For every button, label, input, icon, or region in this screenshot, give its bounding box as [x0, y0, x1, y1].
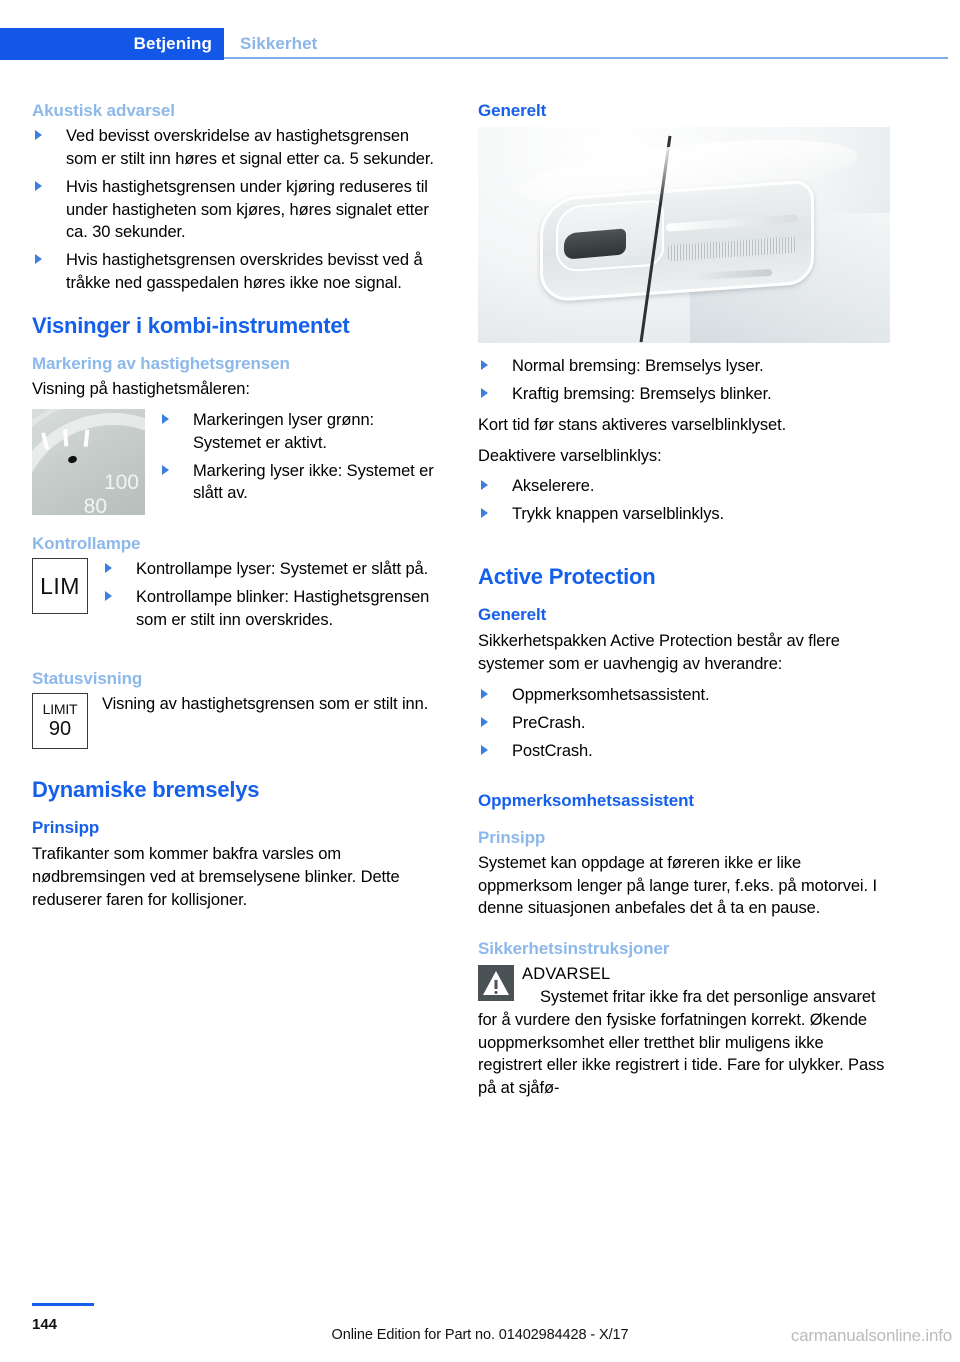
speedometer-label-100: 100	[104, 471, 139, 495]
triangle-bullet-icon	[481, 745, 488, 755]
list-item-text: Kraftig bremsing: Bremselys blinker.	[512, 385, 772, 403]
heading-generelt-bremselys: Generelt	[478, 100, 890, 121]
watermark-text: carmanualsonline.info	[791, 1326, 952, 1346]
heading-visninger-kombi: Visninger i kombi-instrumentet	[32, 313, 444, 339]
triangle-bullet-icon	[481, 508, 488, 518]
speedometer-image: 100 80	[32, 409, 145, 515]
left-column: Akustisk advarsel Ved bevisst overskride…	[32, 100, 444, 920]
lim-badge-figure: LIM	[32, 558, 88, 614]
kort-tid-text: Kort tid før stans aktiveres varselblink…	[478, 414, 890, 437]
list-active-bullets: Oppmerksomhetsassistent. PreCrash. PostC…	[478, 684, 890, 762]
triangle-bullet-icon	[481, 388, 488, 398]
heading-generelt-active: Generelt	[478, 604, 890, 625]
list-item: Kraftig bremsing: Bremselys blinker.	[478, 383, 890, 406]
heading-sikkerhetsinstruksjoner: Sikkerhetsinstruksjoner	[478, 938, 890, 959]
triangle-bullet-icon	[481, 360, 488, 370]
tab-betjening[interactable]: Betjening	[0, 28, 224, 60]
list-item: Ved bevisst overskridelse av hastighetsg…	[32, 125, 444, 171]
list-item-text: Markering lyser ikke: Systemet er slått …	[193, 462, 434, 503]
heading-prinsipp-right: Prinsipp	[478, 827, 890, 848]
list-item: PreCrash.	[478, 712, 890, 735]
heading-dynamiske-bremselys: Dynamiske bremselys	[32, 777, 444, 803]
limit-badge-value: 90	[49, 718, 71, 740]
lim-badge-label: LIM	[40, 575, 80, 598]
kontrollampe-figure-row: LIM Kontrollampe lyser: Systemet er slåt…	[32, 558, 444, 639]
list-item: Markeringen lyser grønn: Systemet er akt…	[159, 409, 444, 455]
warning-triangle-icon	[478, 965, 514, 1001]
triangle-bullet-icon	[162, 465, 169, 475]
header-divider	[224, 57, 948, 59]
list-akustisk-bullets: Ved bevisst overskridelse av hastighetsg…	[32, 125, 444, 294]
statusvisning-text: Visning av hastighetsgrensen som er stil…	[102, 693, 444, 716]
list-item-text: Hvis hastighetsgrensen overskrides bevis…	[66, 251, 423, 292]
triangle-bullet-icon	[35, 254, 42, 264]
list-item: Kontrollampe lyser: Systemet er slått på…	[102, 558, 444, 581]
list-item: Kontrollampe blinker: Hastighetsgrensen …	[102, 586, 444, 632]
list-item: Markering lyser ikke: Systemet er slått …	[159, 460, 444, 506]
heading-kontrollampe: Kontrollampe	[32, 533, 444, 554]
deaktivere-text: Deaktivere varselblinklys:	[478, 445, 890, 468]
triangle-bullet-icon	[481, 689, 488, 699]
list-item-text: Oppmerksomhetsassistent.	[512, 686, 710, 704]
list-item-text: Markeringen lyser grønn: Systemet er akt…	[193, 411, 374, 452]
limit-badge-figure: LIMIT 90	[32, 693, 88, 749]
list-kontrollampe-bullets: Kontrollampe lyser: Systemet er slått på…	[102, 558, 444, 631]
prinsipp-text-right: Systemet kan oppdage at føreren ikke er …	[478, 852, 890, 920]
statusvisning-text-col: Visning av hastighetsgrensen som er stil…	[88, 693, 444, 724]
triangle-bullet-icon	[35, 181, 42, 191]
list-item-text: PreCrash.	[512, 714, 585, 732]
prinsipp-text-left: Trafikanter som kommer bakfra varsles om…	[32, 843, 444, 911]
list-item-text: PostCrash.	[512, 742, 593, 760]
list-bremselys-bullets: Normal bremsing: Bremselys lyser. Krafti…	[478, 355, 890, 406]
warning-title: ADVARSEL	[478, 963, 890, 986]
triangle-bullet-icon	[481, 717, 488, 727]
list-item-text: Kontrollampe blinker: Hastighetsgrensen …	[136, 588, 429, 629]
list-item-text: Ved bevisst overskridelse av hastighetsg…	[66, 127, 434, 168]
list-item: Trykk knappen varselblinklys.	[478, 503, 890, 526]
triangle-bullet-icon	[105, 563, 112, 573]
page-header: Betjening Sikkerhet	[0, 28, 960, 60]
list-item: Oppmerksomhetsassistent.	[478, 684, 890, 707]
markering-intro-text: Visning på hastighetsmåleren:	[32, 378, 444, 401]
right-column: Generelt Normal bremsing: Bremselys lyse…	[478, 100, 890, 1100]
heading-akustisk-advarsel: Akustisk advarsel	[32, 100, 444, 121]
car-taillight-image	[478, 127, 890, 343]
warning-exclamation-bar	[495, 980, 498, 989]
limit-indicator-icon: LIMIT 90	[32, 693, 88, 749]
statusvisning-figure-row: LIMIT 90 Visning av hastighetsgrensen so…	[32, 693, 444, 749]
heading-active-protection: Active Protection	[478, 564, 890, 590]
heading-statusvisning: Statusvisning	[32, 668, 444, 689]
heading-prinsipp-left: Prinsipp	[32, 817, 444, 838]
list-item: Akselerere.	[478, 475, 890, 498]
heading-markering: Markering av hastighetsgrensen	[32, 353, 444, 374]
list-deaktivere-bullets: Akselerere. Trykk knappen varselblinklys…	[478, 475, 890, 526]
warning-exclamation-dot	[495, 991, 498, 994]
list-item-text: Akselerere.	[512, 477, 594, 495]
list-item-text: Normal bremsing: Bremselys lyser.	[512, 357, 764, 375]
list-markering-bullets: Markeringen lyser grønn: Systemet er akt…	[159, 409, 444, 505]
list-item: Normal bremsing: Bremselys lyser.	[478, 355, 890, 378]
list-item-text: Kontrollampe lyser: Systemet er slått på…	[136, 560, 428, 578]
speedometer-label-80: 80	[84, 495, 107, 515]
warning-body-text: Systemet fritar ikke fra det personlige …	[478, 986, 890, 1100]
list-item: Hvis hastighetsgrensen under kjøring red…	[32, 176, 444, 244]
speedometer-figure-text: Markeringen lyser grønn: Systemet er akt…	[145, 409, 444, 513]
list-item-text: Hvis hastighetsgrensen under kjøring red…	[66, 178, 429, 242]
limit-badge-label: LIMIT	[43, 702, 78, 717]
speedometer-figure: 100 80	[32, 409, 145, 515]
kontrollampe-text: Kontrollampe lyser: Systemet er slått på…	[88, 558, 444, 639]
lim-indicator-icon: LIM	[32, 558, 88, 614]
tab-sikkerhet[interactable]: Sikkerhet	[240, 28, 317, 60]
triangle-bullet-icon	[105, 591, 112, 601]
warning-block: ADVARSEL Systemet fritar ikke fra det pe…	[478, 963, 890, 1100]
list-item: Hvis hastighetsgrensen overskrides bevis…	[32, 249, 444, 295]
footer-divider	[32, 1303, 94, 1306]
list-item: PostCrash.	[478, 740, 890, 763]
triangle-bullet-icon	[481, 480, 488, 490]
heading-oppmerksomhetsassistent: Oppmerksomhetsassistent	[478, 790, 890, 811]
triangle-bullet-icon	[35, 130, 42, 140]
triangle-bullet-icon	[162, 414, 169, 424]
speedometer-figure-row: 100 80 Markeringen lyser grønn: Systemet…	[32, 409, 444, 515]
active-intro-text: Sikkerhetspakken Active Protection bestå…	[478, 630, 890, 676]
list-item-text: Trykk knappen varselblinklys.	[512, 505, 724, 523]
